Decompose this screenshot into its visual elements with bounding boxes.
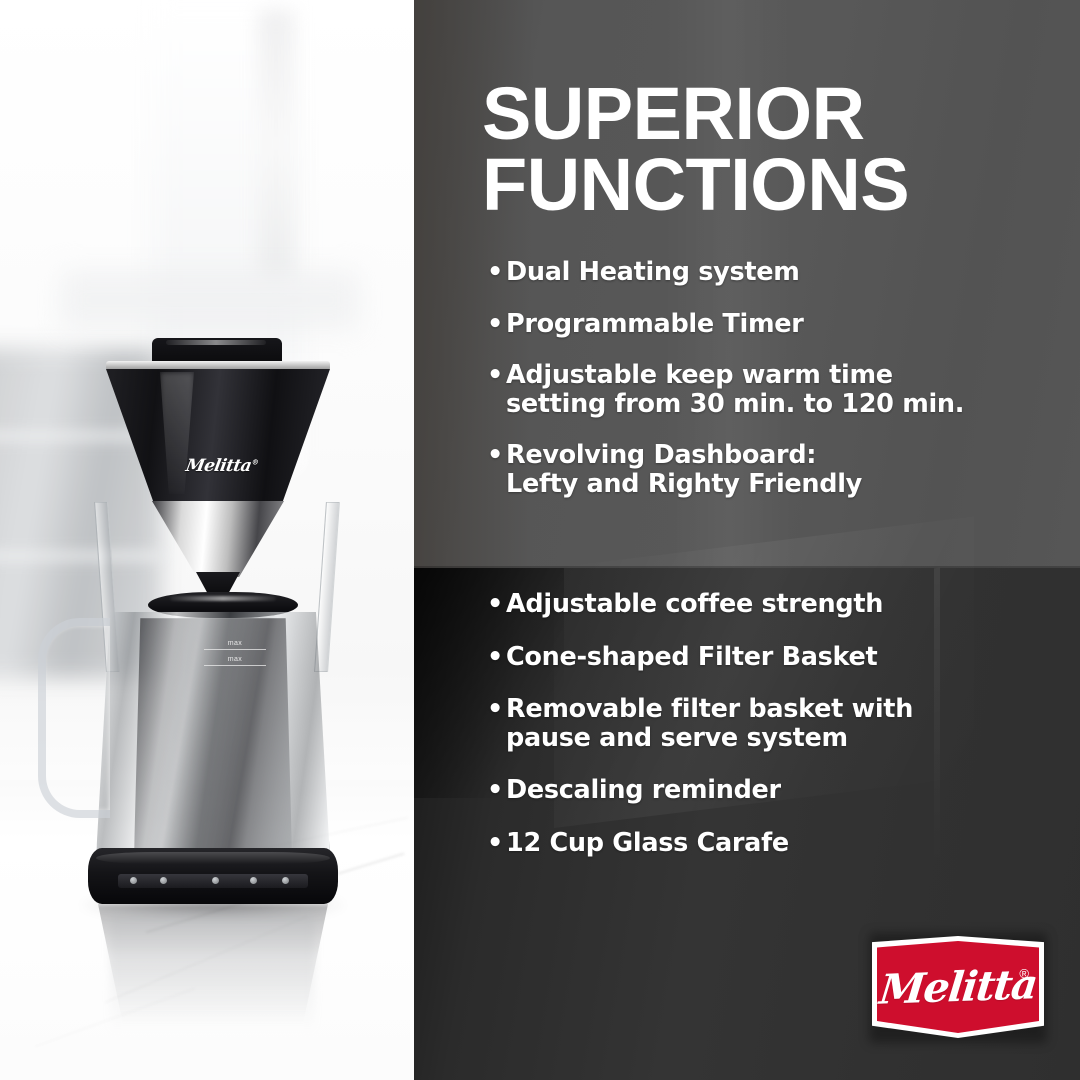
- control-button-icon: [282, 877, 289, 884]
- bullet-icon: •: [487, 829, 503, 858]
- product-brand-mark: Melitta®: [184, 456, 259, 476]
- product-feature-banner: Melitta® max max: [0, 0, 1080, 1080]
- list-item: • Dual Heating system: [487, 258, 1067, 287]
- list-item-label: Dual Heating system: [506, 258, 800, 287]
- bullet-icon: •: [487, 776, 503, 805]
- control-button-icon: [160, 877, 167, 884]
- bullet-icon: •: [487, 258, 503, 287]
- carafe-max-marking: max: [204, 640, 266, 650]
- list-item: • Cone-shaped Filter Basket: [487, 643, 1067, 672]
- carafe-lid-highlight: [170, 596, 276, 601]
- melitta-logo: Melitta ®: [872, 936, 1044, 1038]
- list-item: • Revolving Dashboard: Lefty and Righty …: [487, 441, 1067, 498]
- carafe-max-label: max: [204, 656, 266, 663]
- list-item: • 12 Cup Glass Carafe: [487, 829, 1067, 858]
- list-item: • Adjustable keep warm time setting from…: [487, 361, 1067, 418]
- chrome-funnel: [152, 501, 284, 577]
- logo-registered-symbol: ®: [1019, 966, 1029, 981]
- headline-line-2: FUNCTIONS: [482, 149, 1042, 220]
- list-item-label: 12 Cup Glass Carafe: [506, 829, 789, 858]
- list-item-label: Programmable Timer: [506, 310, 804, 339]
- control-button-icon: [212, 877, 219, 884]
- page-title: SUPERIOR FUNCTIONS: [482, 78, 1042, 220]
- list-item: • Adjustable coffee strength: [487, 590, 1067, 619]
- list-item: • Programmable Timer: [487, 310, 1067, 339]
- carafe-max-label: max: [204, 640, 266, 647]
- carafe-inner-shading: [134, 618, 292, 854]
- features-panel: SUPERIOR FUNCTIONS • Dual Heating system…: [414, 0, 1080, 1080]
- list-item-label: Descaling reminder: [506, 776, 781, 805]
- glass-housing-right: [314, 502, 340, 672]
- list-item-label: Revolving Dashboard: Lefty and Righty Fr…: [506, 441, 862, 498]
- cone-filter-holder: [106, 369, 330, 501]
- bullet-icon: •: [487, 441, 503, 470]
- product-brand-text: Melitta: [184, 456, 253, 476]
- list-item-label: Adjustable keep warm time setting from 3…: [506, 361, 964, 418]
- list-item-label: Cone-shaped Filter Basket: [506, 643, 877, 672]
- lid-highlight: [166, 340, 266, 345]
- carafe-max-marking: max: [204, 656, 266, 666]
- bullet-icon: •: [487, 695, 503, 724]
- product-reflection-glow: [110, 912, 315, 1080]
- carafe-handle: [38, 618, 110, 818]
- bullet-icon: •: [487, 590, 503, 619]
- feature-list-lower: • Adjustable coffee strength • Cone-shap…: [487, 590, 1067, 881]
- section-divider: [414, 566, 1080, 568]
- bullet-icon: •: [487, 361, 503, 390]
- list-item-label: Adjustable coffee strength: [506, 590, 883, 619]
- control-button-icon: [250, 877, 257, 884]
- list-item: • Removable filter basket with pause and…: [487, 695, 1067, 752]
- coffee-maker: Melitta® max max: [0, 0, 414, 1080]
- bullet-icon: •: [487, 643, 503, 672]
- list-item-label: Removable filter basket with pause and s…: [506, 695, 913, 752]
- feature-list-upper: • Dual Heating system • Programmable Tim…: [487, 258, 1067, 521]
- control-button-icon: [130, 877, 137, 884]
- bullet-icon: •: [487, 310, 503, 339]
- list-item: • Descaling reminder: [487, 776, 1067, 805]
- product-photo: Melitta® max max: [0, 0, 414, 1080]
- base-highlight-ring: [96, 852, 330, 864]
